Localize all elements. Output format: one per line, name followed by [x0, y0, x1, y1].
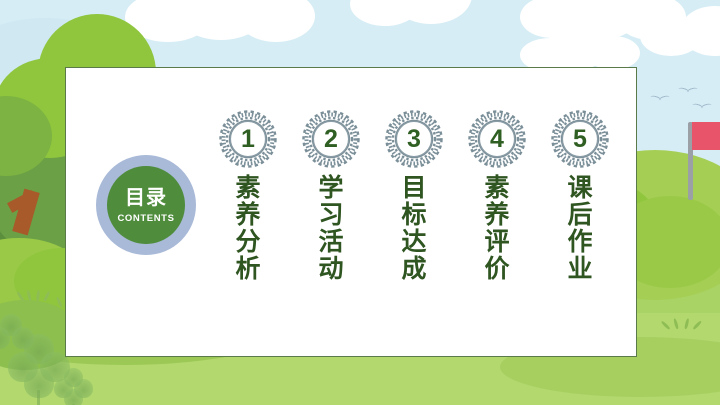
toc-item-4[interactable]: 4 素 养 评 价: [457, 110, 537, 282]
toc-label-5-char-3: 作: [540, 228, 620, 255]
toc-label-3: 目 标 达 成: [374, 174, 454, 282]
contents-badge-inner: 目录 CONTENTS: [107, 166, 185, 244]
toc-item-1[interactable]: 1 素 养 分 析: [208, 110, 288, 282]
toc-label-2-char-1: 学: [291, 174, 371, 201]
toc-label-5-char-1: 课: [540, 174, 620, 201]
toc-label-2-char-2: 习: [291, 201, 371, 228]
contents-title-en: CONTENTS: [117, 213, 174, 224]
toc-label-2: 学 习 活 动: [291, 174, 371, 282]
toc-label-3-char-1: 目: [374, 174, 454, 201]
toc-label-4-char-4: 价: [457, 255, 537, 282]
toc-label-1-char-3: 分: [208, 228, 288, 255]
contents-badge: 目录 CONTENTS: [96, 155, 196, 255]
toc-label-5-char-2: 后: [540, 201, 620, 228]
toc-item-5[interactable]: 5 课 后 作 业: [540, 110, 620, 282]
toc-label-5-char-4: 业: [540, 255, 620, 282]
flag-cloth: [692, 122, 720, 150]
toc-label-3-char-3: 达: [374, 228, 454, 255]
toc-item-3[interactable]: 3 目 标 达 成: [374, 110, 454, 282]
medallion-number-5: 5: [551, 110, 609, 168]
contents-title-cn: 目录: [125, 187, 167, 209]
toc-item-2[interactable]: 2 学 习 活 动: [291, 110, 371, 282]
toc-label-1-char-2: 养: [208, 201, 288, 228]
toc-label-3-char-4: 成: [374, 255, 454, 282]
medallion-1: 1: [219, 110, 277, 168]
toc-label-3-char-2: 标: [374, 201, 454, 228]
toc-label-1-char-4: 析: [208, 255, 288, 282]
slide-canvas: 目录 CONTENTS 1 素 养 分 析: [0, 0, 720, 405]
toc-label-4-char-3: 评: [457, 228, 537, 255]
medallion-5: 5: [551, 110, 609, 168]
medallion-2: 2: [302, 110, 360, 168]
toc-label-4-char-2: 养: [457, 201, 537, 228]
toc-label-1: 素 养 分 析: [208, 174, 288, 282]
toc-label-2-char-3: 活: [291, 228, 371, 255]
toc-label-2-char-4: 动: [291, 255, 371, 282]
toc-label-4: 素 养 评 价: [457, 174, 537, 282]
medallion-number-4: 4: [468, 110, 526, 168]
medallion-number-1: 1: [219, 110, 277, 168]
medallion-3: 3: [385, 110, 443, 168]
medallion-number-3: 3: [385, 110, 443, 168]
toc-label-1-char-1: 素: [208, 174, 288, 201]
medallion-number-2: 2: [302, 110, 360, 168]
toc-label-5: 课 后 作 业: [540, 174, 620, 282]
toc-label-4-char-1: 素: [457, 174, 537, 201]
medallion-4: 4: [468, 110, 526, 168]
